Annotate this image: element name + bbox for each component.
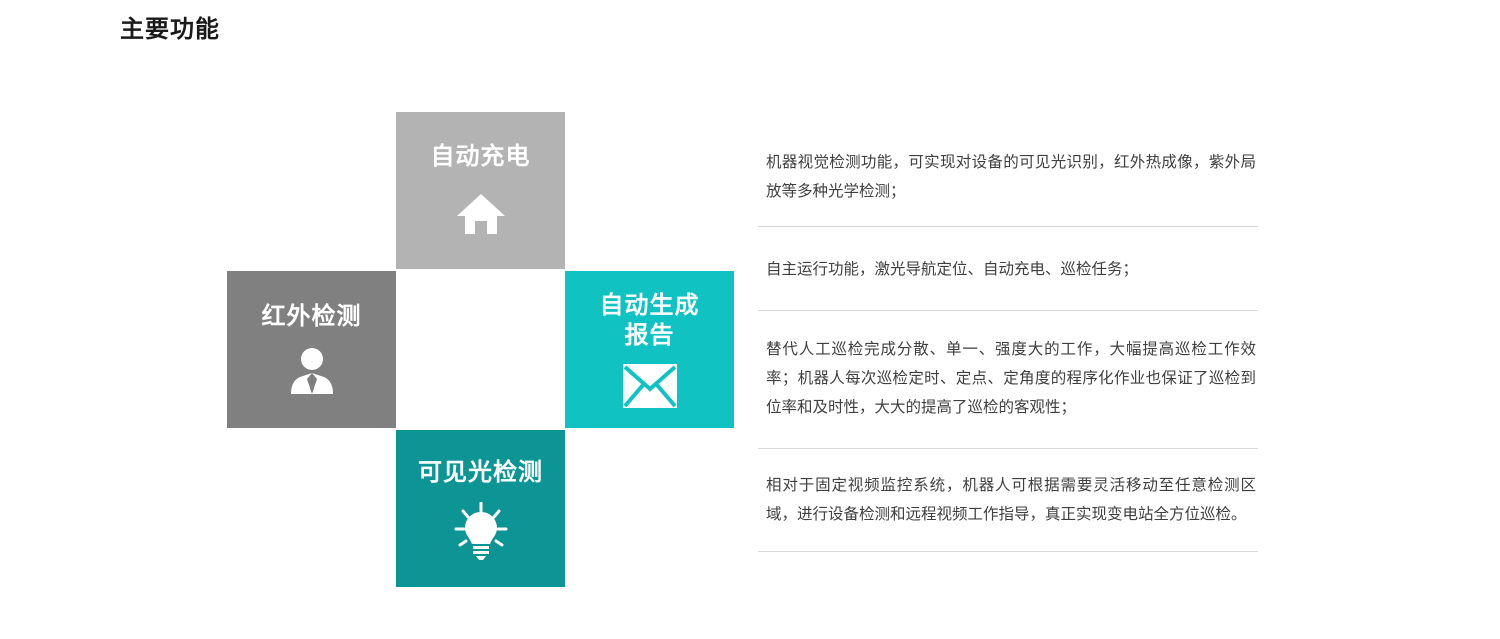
tile-auto-report[interactable]: 自动生成 报告: [565, 271, 734, 428]
description-item-2: 自主运行功能，激光导航定位、自动充电、巡检任务；: [758, 255, 1258, 284]
person-icon: [286, 346, 338, 398]
feature-tile-grid: 自动充电 红外检测 自动生成 报告 可见光检测: [227, 112, 734, 587]
description-item-1: 机器视觉检测功能，可实现对设备的可见光识别，红外热成像，紫外局放等多种光学检测；: [758, 148, 1258, 206]
tile-visible-light-detection-label: 可见光检测: [418, 458, 543, 488]
feature-description-panel: 机器视觉检测功能，可实现对设备的可见光识别，红外热成像，紫外局放等多种光学检测；…: [758, 148, 1258, 552]
description-item-4: 相对于固定视频监控系统，机器人可根据需要灵活移动至任意检测区域，进行设备检测和远…: [758, 471, 1258, 529]
page-title: 主要功能: [120, 16, 220, 45]
tile-auto-charging-label: 自动充电: [431, 142, 531, 172]
description-text-2: 自主运行功能，激光导航定位、自动充电、巡检任务；: [766, 255, 1258, 284]
description-text-4: 相对于固定视频监控系统，机器人可根据需要灵活移动至任意检测区域，进行设备检测和远…: [766, 471, 1258, 529]
envelope-icon: [622, 363, 678, 409]
home-icon: [455, 188, 507, 240]
description-text-1: 机器视觉检测功能，可实现对设备的可见光识别，红外热成像，紫外局放等多种光学检测；: [766, 148, 1258, 206]
tile-infrared-detection-label: 红外检测: [262, 302, 362, 332]
tile-auto-report-label: 自动生成 报告: [600, 291, 700, 351]
lightbulb-icon: [454, 502, 508, 560]
tile-infrared-detection[interactable]: 红外检测: [227, 271, 396, 428]
description-item-3: 替代人工巡检完成分散、单一、强度大的工作，大幅提高巡检工作效率；机器人每次巡检定…: [758, 335, 1258, 422]
divider-4: [758, 551, 1258, 552]
tile-auto-charging[interactable]: 自动充电: [396, 112, 565, 269]
description-text-3: 替代人工巡检完成分散、单一、强度大的工作，大幅提高巡检工作效率；机器人每次巡检定…: [766, 335, 1258, 422]
tile-visible-light-detection[interactable]: 可见光检测: [396, 430, 565, 587]
